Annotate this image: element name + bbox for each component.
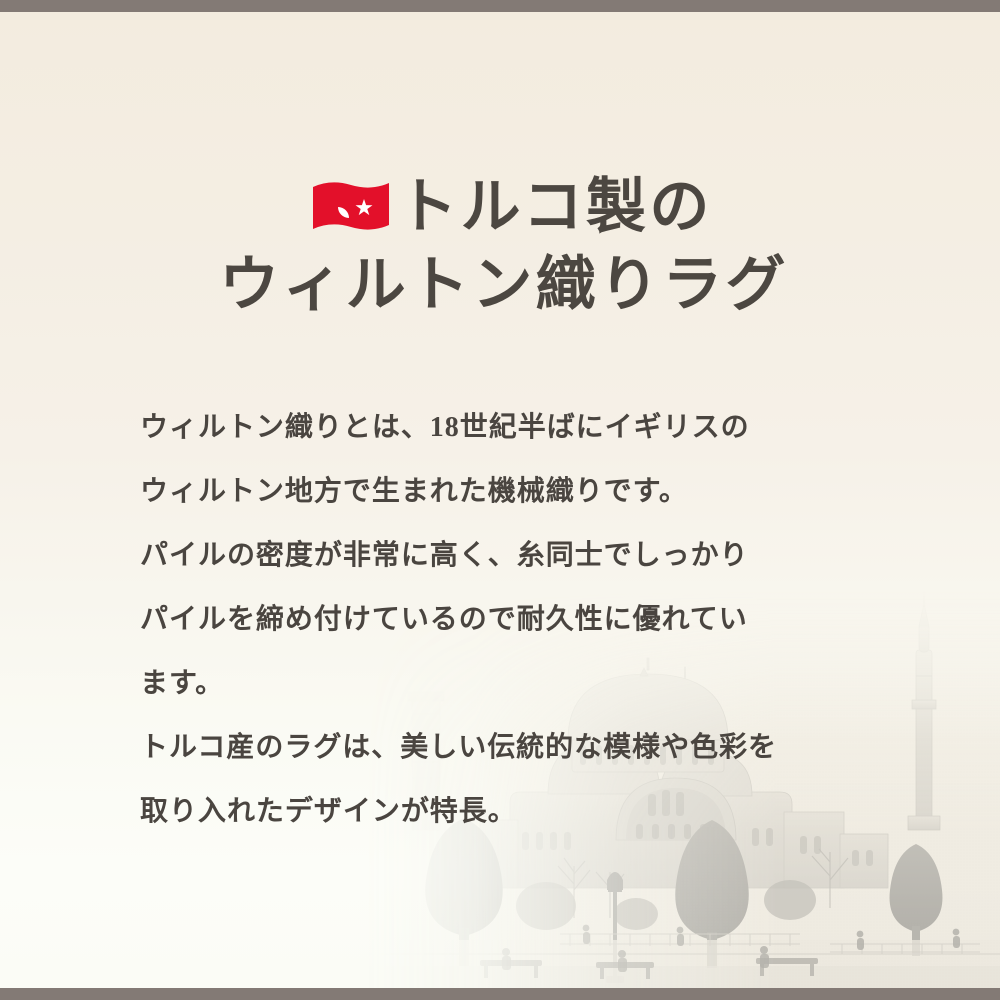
body-copy: ウィルトン織りとは、18世紀半ばにイギリスの ウィルトン地方で生まれた機械織りで… <box>140 396 900 844</box>
turkey-flag-icon <box>309 177 393 237</box>
heading-line-1: トルコ製の <box>0 168 1000 246</box>
heading-text-1: トルコ製の <box>397 174 712 240</box>
body-line: 取り入れたデザインが特長。 <box>140 780 900 844</box>
promo-banner: トルコ製の ウィルトン織りラグ ウィルトン織りとは、18世紀半ばにイギリスの ウ… <box>0 0 1000 1000</box>
top-rule-bar <box>0 0 1000 12</box>
bottom-rule-bar <box>0 988 1000 1000</box>
body-line: トルコ産のラグは、美しい伝統的な模様や色彩を <box>140 716 900 780</box>
body-line: パイルの密度が非常に高く、糸同士でしっかり <box>140 524 900 588</box>
body-line: ます。 <box>140 652 900 716</box>
page-title: トルコ製の ウィルトン織りラグ <box>0 168 1000 324</box>
heading-line-2: ウィルトン織りラグ <box>0 246 1000 324</box>
body-line: パイルを締め付けているので耐久性に優れてい <box>140 588 900 652</box>
body-line: ウィルトン織りとは、18世紀半ばにイギリスの <box>140 396 900 460</box>
body-line: ウィルトン地方で生まれた機械織りです。 <box>140 460 900 524</box>
